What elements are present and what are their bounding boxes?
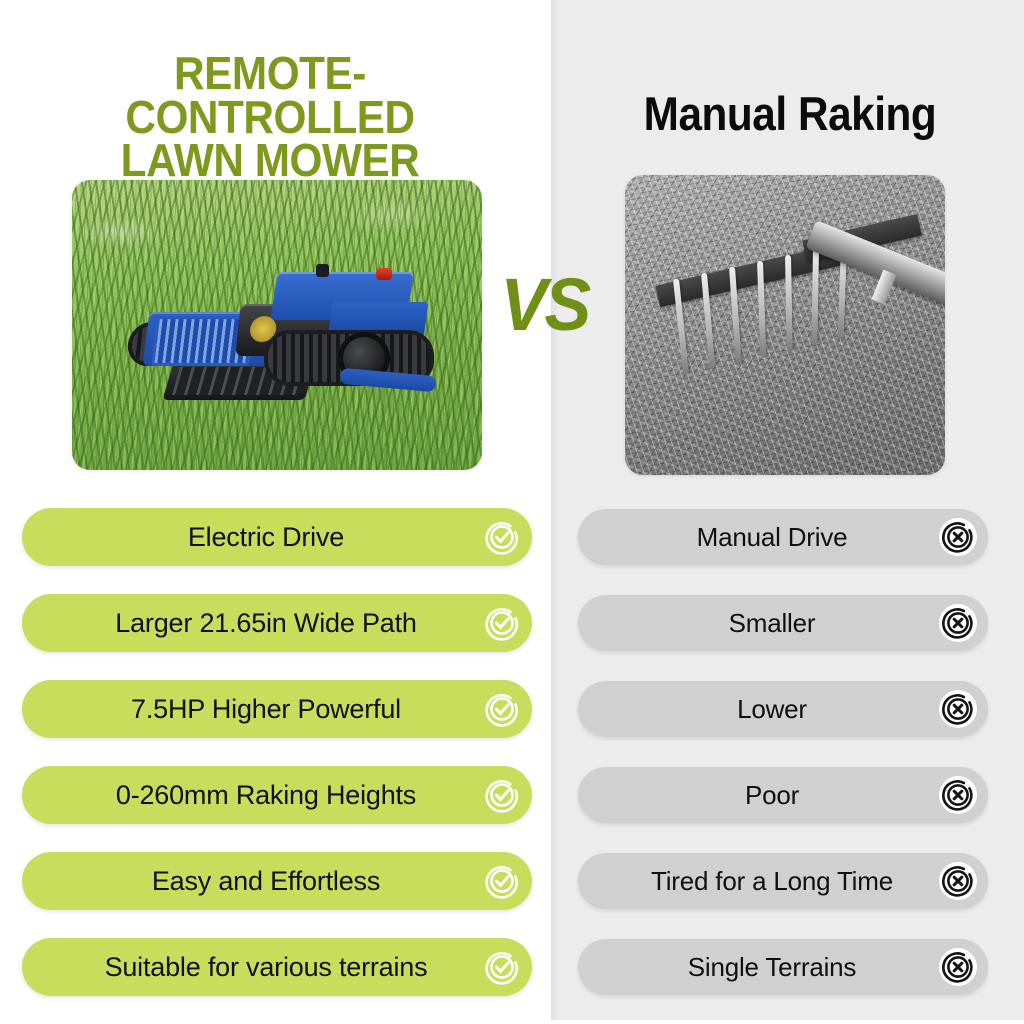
right-feature-pill[interactable]: Lower (578, 681, 988, 737)
right-feature-pill[interactable]: Smaller (578, 595, 988, 651)
x-circle-icon (938, 775, 978, 815)
manual-rake-photo (625, 175, 945, 475)
x-circle-icon (938, 517, 978, 557)
mower-stop-button (376, 268, 392, 280)
check-circle-icon (482, 517, 522, 557)
left-feature-label: Easy and Effortless (130, 866, 424, 897)
left-feature-pill[interactable]: Larger 21.65in Wide Path (22, 594, 532, 652)
left-column-title: REMOTE-CONTROLLED LAWN MOWER (49, 52, 491, 183)
right-feature-pill[interactable]: Tired for a Long Time (578, 853, 988, 909)
x-circle-icon (938, 947, 978, 987)
versus-badge: VS (500, 262, 588, 347)
right-feature-label: Poor (723, 780, 843, 811)
left-feature-label: 0-260mm Raking Heights (94, 780, 460, 811)
right-feature-label: Smaller (707, 608, 860, 639)
check-circle-icon (482, 947, 522, 987)
left-title-line-1: REMOTE-CONTROLLED (125, 47, 414, 143)
left-feature-pill[interactable]: Easy and Effortless (22, 852, 532, 910)
comparison-infographic: REMOTE-CONTROLLED LAWN MOWER Manual Raki… (0, 0, 1024, 1024)
left-feature-pill[interactable]: 0-260mm Raking Heights (22, 766, 532, 824)
x-circle-icon (938, 861, 978, 901)
left-feature-pill[interactable]: Electric Drive (22, 508, 532, 566)
mower-antenna-mount (316, 264, 329, 277)
x-circle-icon (938, 603, 978, 643)
right-feature-pill[interactable]: Single Terrains (578, 939, 988, 995)
mower-illustration (124, 266, 436, 426)
left-feature-label: Larger 21.65in Wide Path (93, 608, 460, 639)
left-title-line-2: LAWN MOWER (49, 139, 491, 183)
left-feature-pill[interactable]: Suitable for various terrains (22, 938, 532, 996)
right-feature-label: Single Terrains (666, 952, 901, 983)
left-feature-label: Electric Drive (166, 522, 388, 553)
right-feature-label: Tired for a Long Time (629, 866, 937, 897)
right-feature-label: Manual Drive (675, 522, 892, 553)
right-feature-pill[interactable]: Poor (578, 767, 988, 823)
right-feature-pill[interactable]: Manual Drive (578, 509, 988, 565)
check-circle-icon (482, 861, 522, 901)
check-circle-icon (482, 689, 522, 729)
left-feature-label: 7.5HP Higher Powerful (109, 694, 445, 725)
x-circle-icon (938, 689, 978, 729)
lawn-mower-photo (72, 180, 482, 470)
panel-divider (551, 0, 559, 1020)
check-circle-icon (482, 603, 522, 643)
right-feature-label: Lower (715, 694, 851, 725)
left-feature-pill[interactable]: 7.5HP Higher Powerful (22, 680, 532, 738)
right-column-title: Manual Raking (597, 86, 984, 141)
left-feature-label: Suitable for various terrains (83, 952, 472, 983)
check-circle-icon (482, 775, 522, 815)
